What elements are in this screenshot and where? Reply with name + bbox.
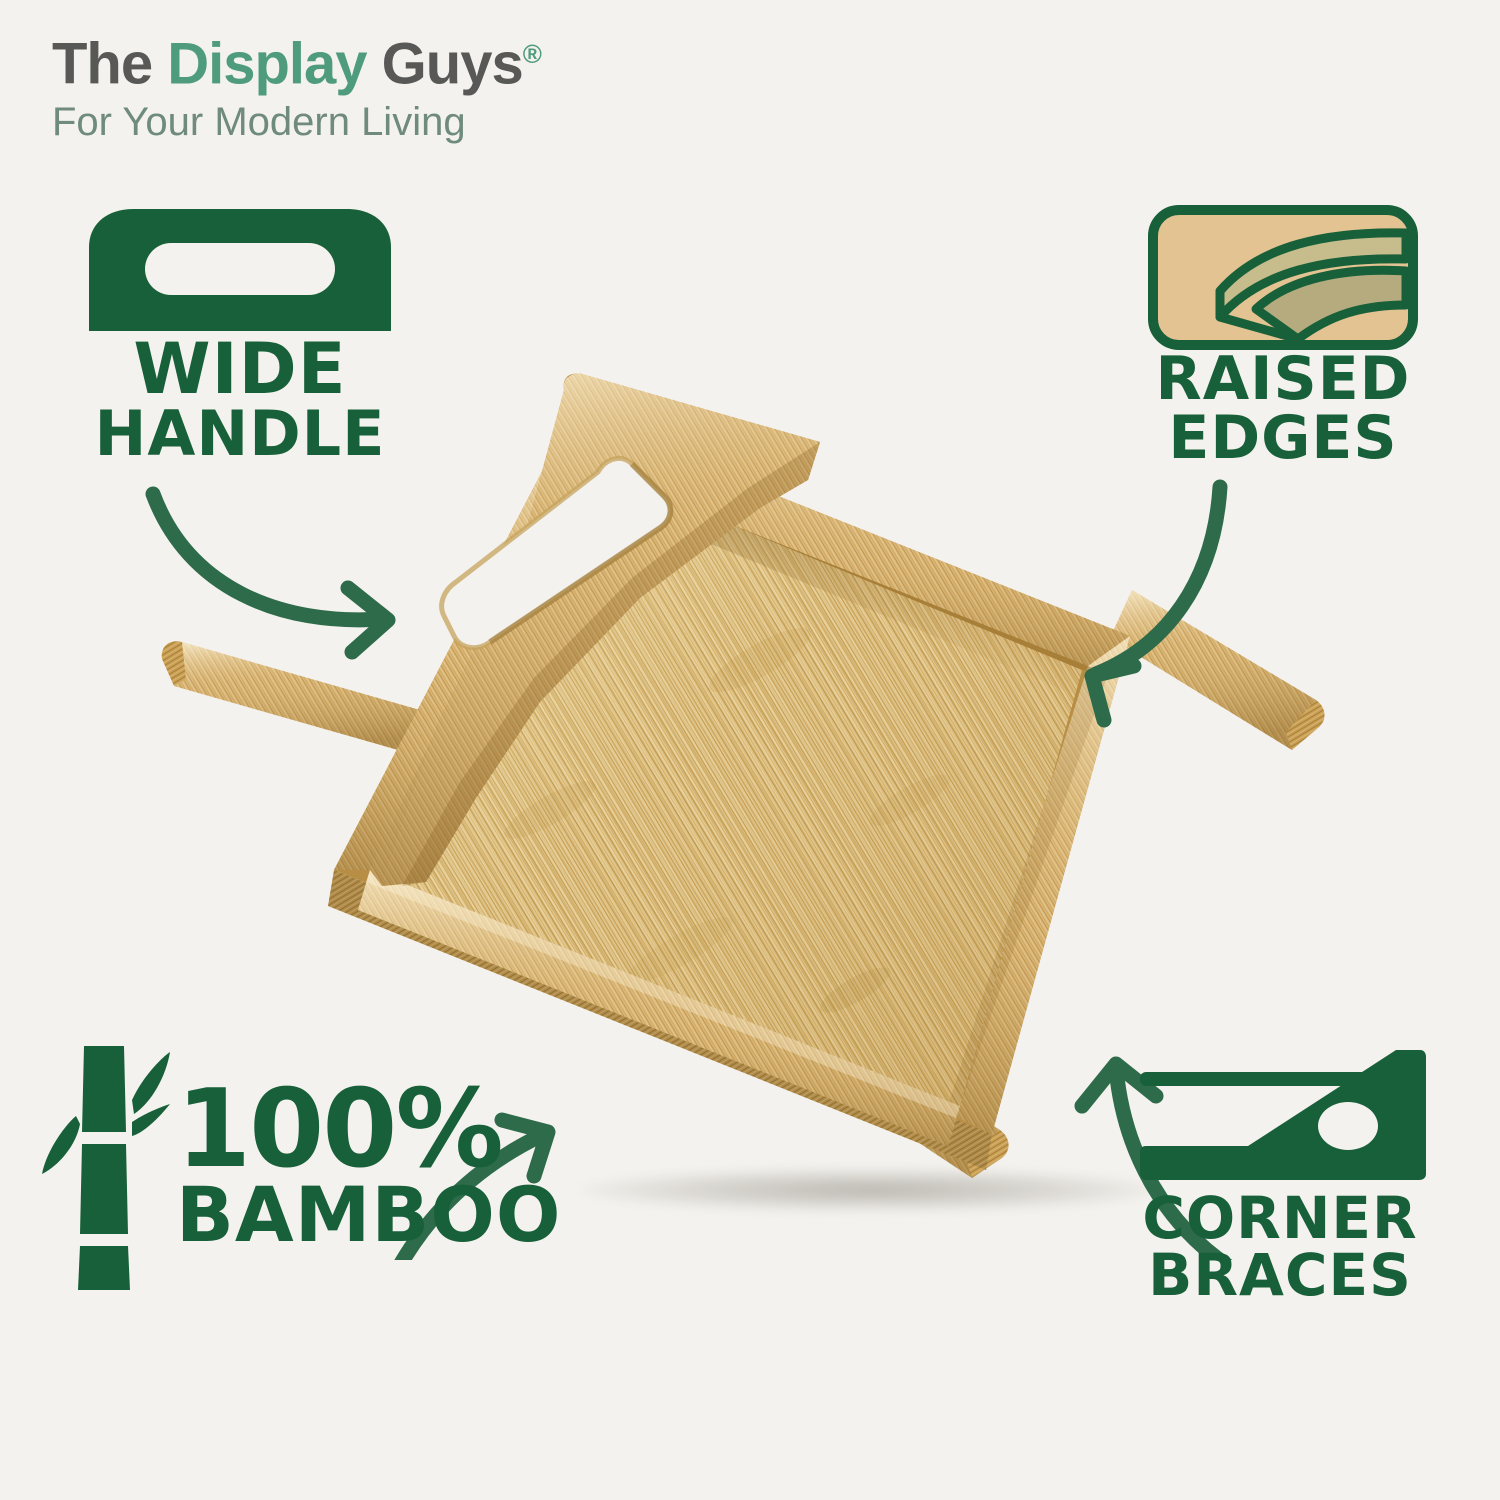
wide-handle-icon bbox=[85, 205, 395, 335]
feature-bamboo-label: 100% BAMBOO bbox=[176, 1080, 562, 1249]
feature-raised-edges: RAISED EDGES bbox=[1108, 205, 1458, 468]
feature-wide-handle-label: WIDE HANDLE bbox=[60, 335, 420, 464]
logo-title: The Display Guys® bbox=[52, 22, 652, 96]
feature-raised-edges-label: RAISED EDGES bbox=[1108, 350, 1458, 468]
arrow-to-handle bbox=[153, 494, 388, 652]
raised-edges-icon bbox=[1148, 205, 1418, 350]
feature-label-line1: WIDE bbox=[60, 335, 420, 404]
registered-trademark-icon: ® bbox=[523, 39, 541, 69]
logo-word-guys: Guys bbox=[367, 31, 523, 96]
feature-label-line2: HANDLE bbox=[60, 404, 420, 465]
tray-right-handle-rail bbox=[1110, 590, 1325, 750]
feature-label-line1: CORNER bbox=[1090, 1190, 1470, 1247]
corner-brace-icon bbox=[1130, 1040, 1430, 1190]
product-infographic: The Display Guys® For Your Modern Living bbox=[0, 0, 1500, 1500]
bamboo-stalk-icon bbox=[40, 1040, 170, 1290]
feature-bamboo: 100% BAMBOO bbox=[40, 1040, 600, 1290]
brand-logo: The Display Guys® For Your Modern Living bbox=[52, 22, 652, 152]
feature-label-line2: BRACES bbox=[1090, 1247, 1470, 1304]
feature-corner-braces: CORNER BRACES bbox=[1090, 1040, 1470, 1304]
feature-label-line1: RAISED bbox=[1108, 350, 1458, 409]
feature-label-line2: BAMBOO bbox=[176, 1180, 562, 1250]
feature-wide-handle: WIDE HANDLE bbox=[60, 205, 420, 464]
logo-word-the: The bbox=[52, 31, 167, 96]
logo-tagline: For Your Modern Living bbox=[52, 98, 652, 146]
feature-label-line1: 100% bbox=[176, 1080, 562, 1179]
feature-label-line2: EDGES bbox=[1108, 409, 1458, 468]
tray-left-handle-rail bbox=[162, 641, 420, 754]
logo-word-display: Display bbox=[167, 31, 366, 96]
feature-corner-braces-label: CORNER BRACES bbox=[1090, 1190, 1470, 1304]
